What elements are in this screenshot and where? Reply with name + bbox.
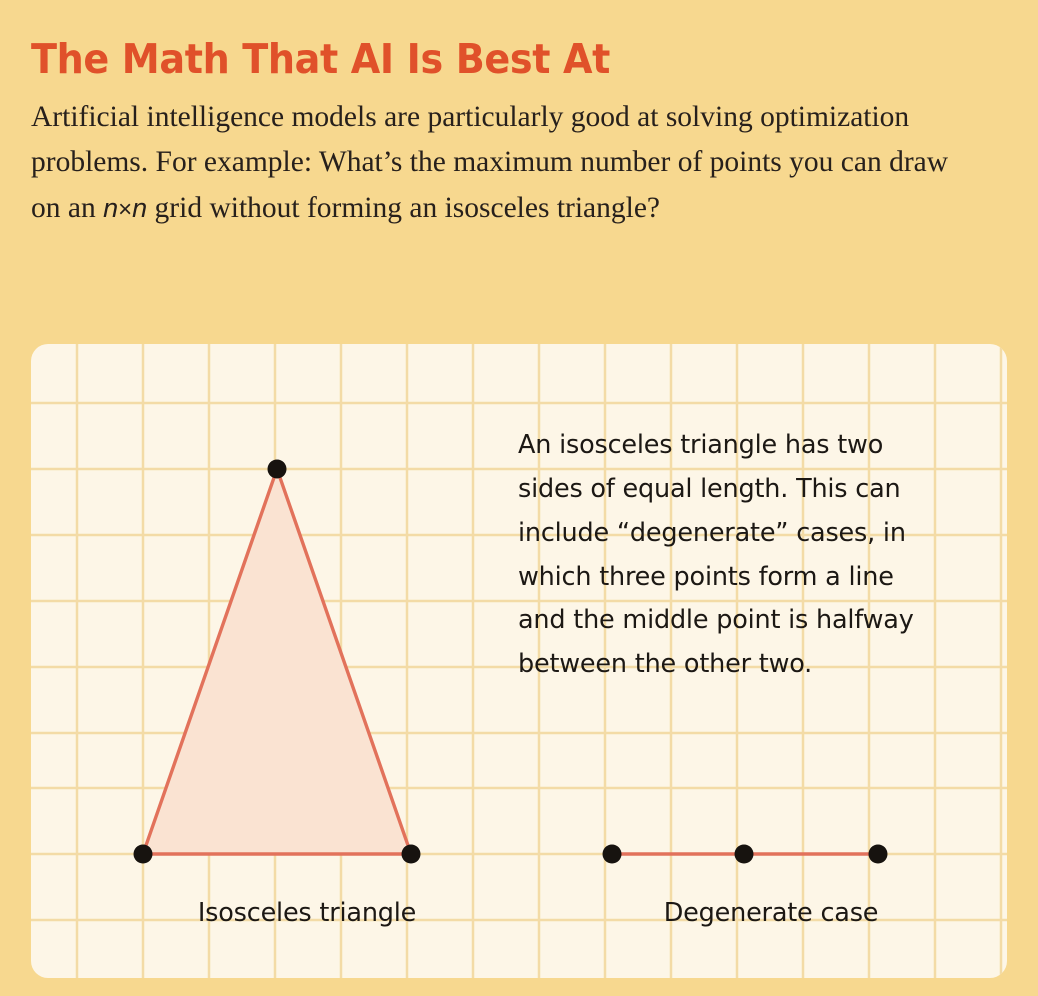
caption-isosceles-triangle: Isosceles triangle — [77, 898, 537, 928]
deck-text-after: grid without forming an isosceles triang… — [147, 192, 660, 224]
degenerate-middle-point — [735, 845, 754, 864]
triangle-bottom-left-point — [134, 845, 153, 864]
grid-variable-n-first: n — [103, 193, 118, 223]
page-title: The Math That AI Is Best At — [31, 38, 924, 81]
isosceles-triangle-shape — [143, 469, 411, 854]
sidenote-text: An isosceles triangle has two sides of e… — [518, 424, 938, 687]
degenerate-right-point — [869, 845, 888, 864]
deck-paragraph: Artificial intelligence models are parti… — [31, 95, 976, 231]
caption-degenerate-case: Degenerate case — [541, 898, 1001, 928]
header: The Math That AI Is Best At Artificial i… — [31, 38, 991, 231]
figure-card: An isosceles triangle has two sides of e… — [31, 344, 1007, 978]
triangle-apex-point — [268, 460, 287, 479]
grid-multiply-symbol: × — [118, 196, 132, 223]
degenerate-left-point — [603, 845, 622, 864]
grid-variable-n-second: n — [132, 193, 147, 223]
triangle-bottom-right-point — [402, 845, 421, 864]
